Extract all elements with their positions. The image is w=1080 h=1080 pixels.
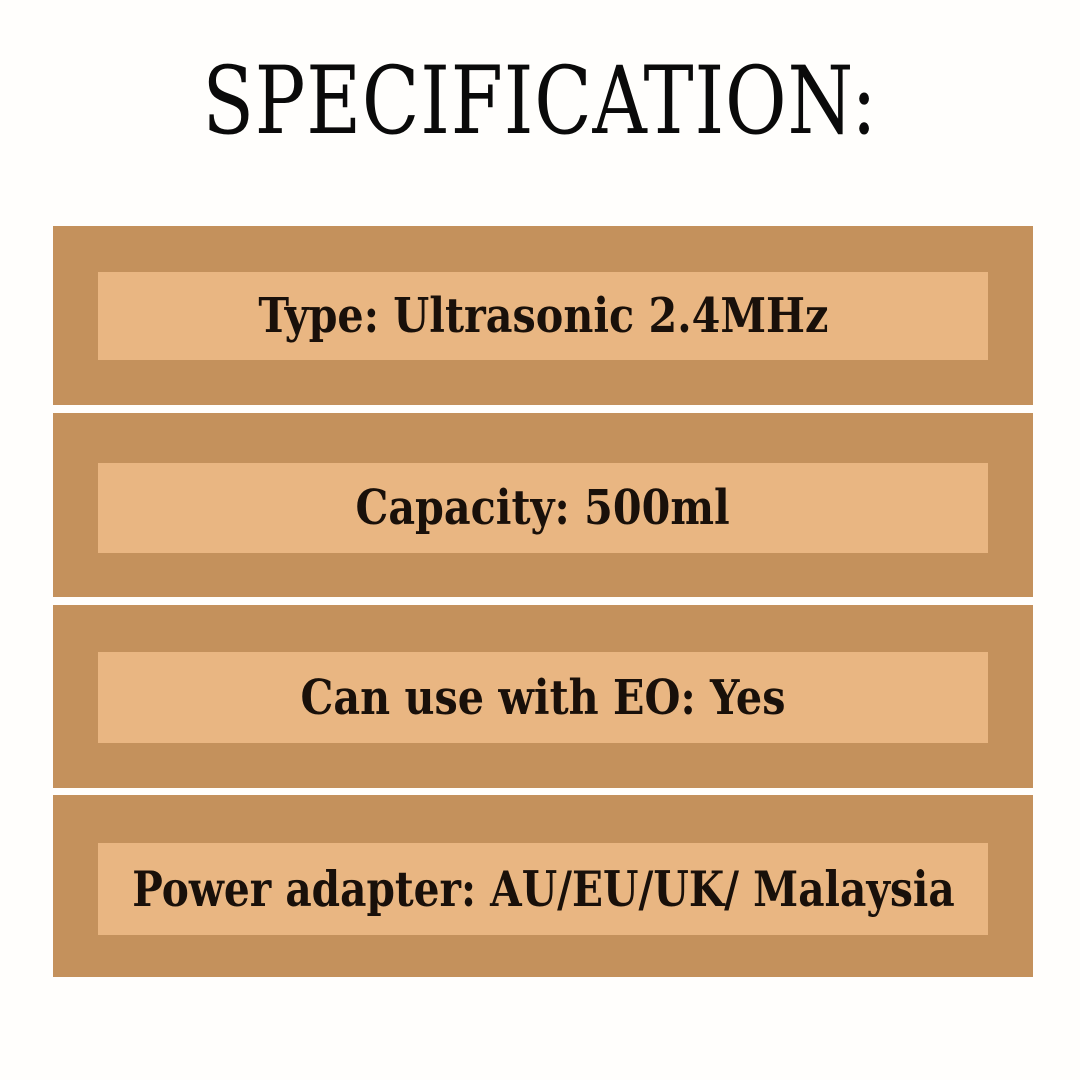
specification-page: SPECIFICATION: Type: Ultrasonic 2.4MHz C… [0,0,1080,1080]
specification-list: Type: Ultrasonic 2.4MHz Capacity: 500ml … [53,226,1033,977]
spec-row-type: Type: Ultrasonic 2.4MHz [53,226,1033,405]
spec-row-text: Power adapter: AU/EU/UK/ Malaysia [132,861,954,917]
spec-value-panel: Power adapter: AU/EU/UK/ Malaysia [98,843,988,935]
spec-value-panel: Can use with EO: Yes [98,652,988,743]
spec-row-can-use-with-eo: Can use with EO: Yes [53,605,1033,788]
page-title: SPECIFICATION: [108,52,972,152]
spec-row-text: Capacity: 500ml [356,480,730,536]
spec-row-power-adapter: Power adapter: AU/EU/UK/ Malaysia [53,795,1033,977]
spec-row-text: Can use with EO: Yes [301,670,786,726]
spec-value-panel: Capacity: 500ml [98,463,988,553]
spec-row-text: Type: Ultrasonic 2.4MHz [258,288,828,344]
spec-row-capacity: Capacity: 500ml [53,413,1033,597]
spec-value-panel: Type: Ultrasonic 2.4MHz [98,272,988,360]
